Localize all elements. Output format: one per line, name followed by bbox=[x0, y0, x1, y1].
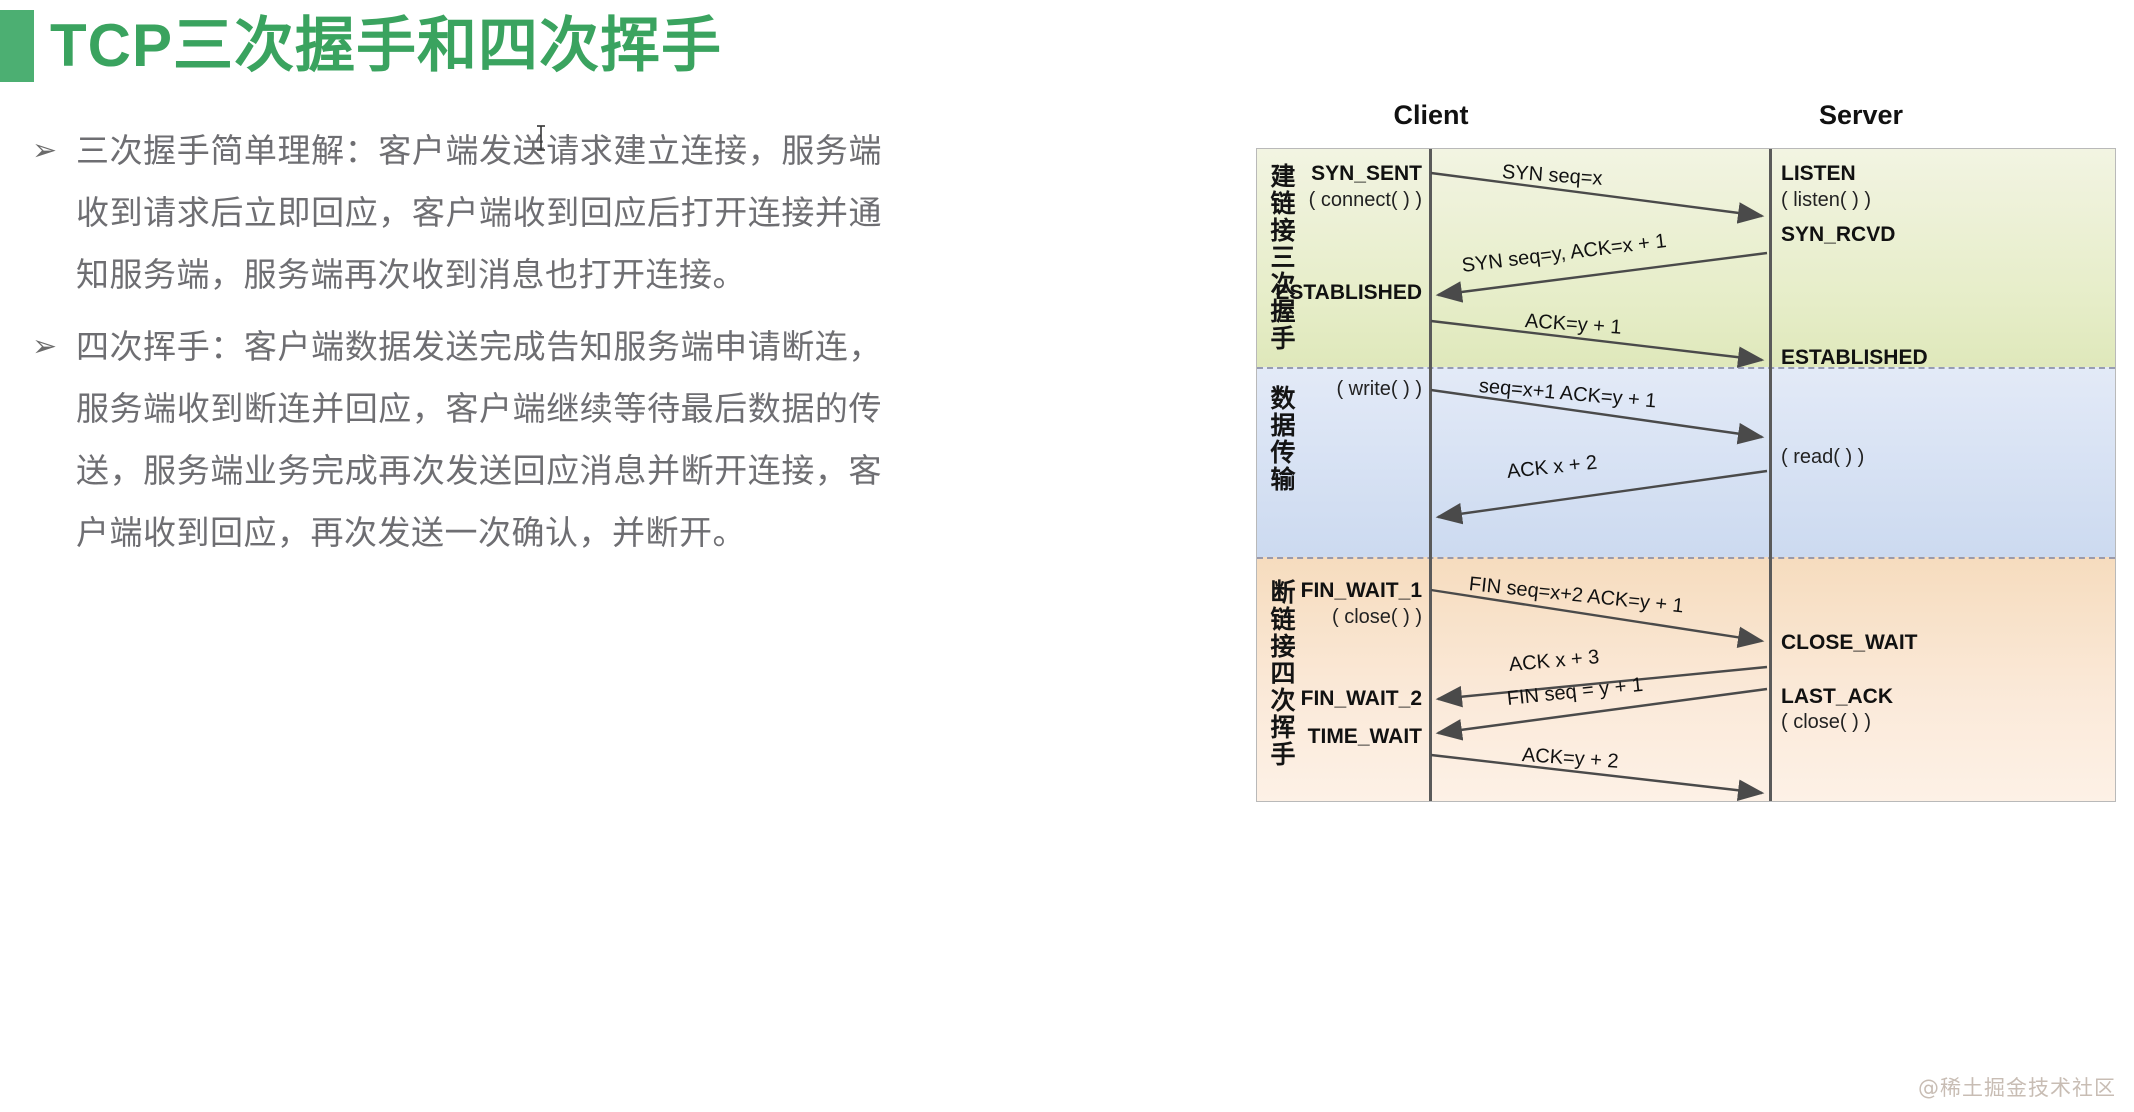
bullet-arrow-icon: ➢ bbox=[22, 316, 76, 378]
state-client-fin-wait-2: FIN_WAIT_2 bbox=[1301, 687, 1422, 711]
title-accent-bar bbox=[0, 10, 34, 82]
bullet-arrow-icon: ➢ bbox=[22, 120, 76, 182]
state-client-time-wait: TIME_WAIT bbox=[1308, 725, 1422, 749]
bullet-text: 三次握手简单理解：客户端发送请求建立连接，服务端收到请求后立即回应，客户端收到回… bbox=[76, 120, 882, 306]
lane-header-client: Client bbox=[1393, 100, 1468, 131]
list-item: ➢ 四次挥手：客户端数据发送完成告知服务端申请断连，服务端收到断连并回应，客户端… bbox=[22, 316, 882, 564]
state-server-close-wait: CLOSE_WAIT bbox=[1781, 631, 1918, 655]
state-server-last-ack: LAST_ACK bbox=[1781, 685, 1893, 709]
state-server-established: ESTABLISHED bbox=[1781, 346, 1928, 370]
list-item: ➢ 三次握手简单理解：客户端发送请求建立连接，服务端收到请求后立即回应，客户端收… bbox=[22, 120, 882, 306]
lane-header-server: Server bbox=[1819, 100, 1903, 131]
state-server-listen-call: ( listen( ) ) bbox=[1781, 189, 1871, 212]
state-server-syn-rcvd: SYN_RCVD bbox=[1781, 223, 1895, 247]
state-client-fin-wait-1: FIN_WAIT_1 bbox=[1301, 579, 1422, 603]
bullet-list: ➢ 三次握手简单理解：客户端发送请求建立连接，服务端收到请求后立即回应，客户端收… bbox=[22, 120, 882, 574]
diagram-lane-headers: Client Server bbox=[1256, 100, 2116, 150]
state-client-write: ( write( ) ) bbox=[1336, 378, 1422, 401]
state-server-listen: LISTEN bbox=[1781, 162, 1856, 186]
state-server-close-call: ( close( ) ) bbox=[1781, 711, 1871, 734]
text-cursor bbox=[535, 124, 547, 152]
diagram-body: 建链接三次握手 数据传输 断链接四次挥手 bbox=[1256, 148, 2116, 802]
state-client-close: ( close( ) ) bbox=[1332, 606, 1422, 629]
bullet-text: 四次挥手：客户端数据发送完成告知服务端申请断连，服务端收到断连并回应，客户端继续… bbox=[76, 316, 882, 564]
watermark: @稀土掘金技术社区 bbox=[1918, 1072, 2116, 1102]
page-title: TCP三次握手和四次挥手 bbox=[0, 8, 722, 84]
tcp-sequence-diagram: Client Server 建链接三次握手 数据传输 断链接四次挥手 bbox=[1256, 100, 2116, 805]
state-client-syn-sent: SYN_SENT bbox=[1311, 162, 1422, 186]
state-client-connect: ( connect( ) ) bbox=[1309, 189, 1422, 212]
state-client-established: ESTABLISHED bbox=[1275, 281, 1422, 305]
state-server-read: ( read( ) ) bbox=[1781, 446, 1864, 469]
title-text: TCP三次握手和四次挥手 bbox=[50, 16, 722, 76]
